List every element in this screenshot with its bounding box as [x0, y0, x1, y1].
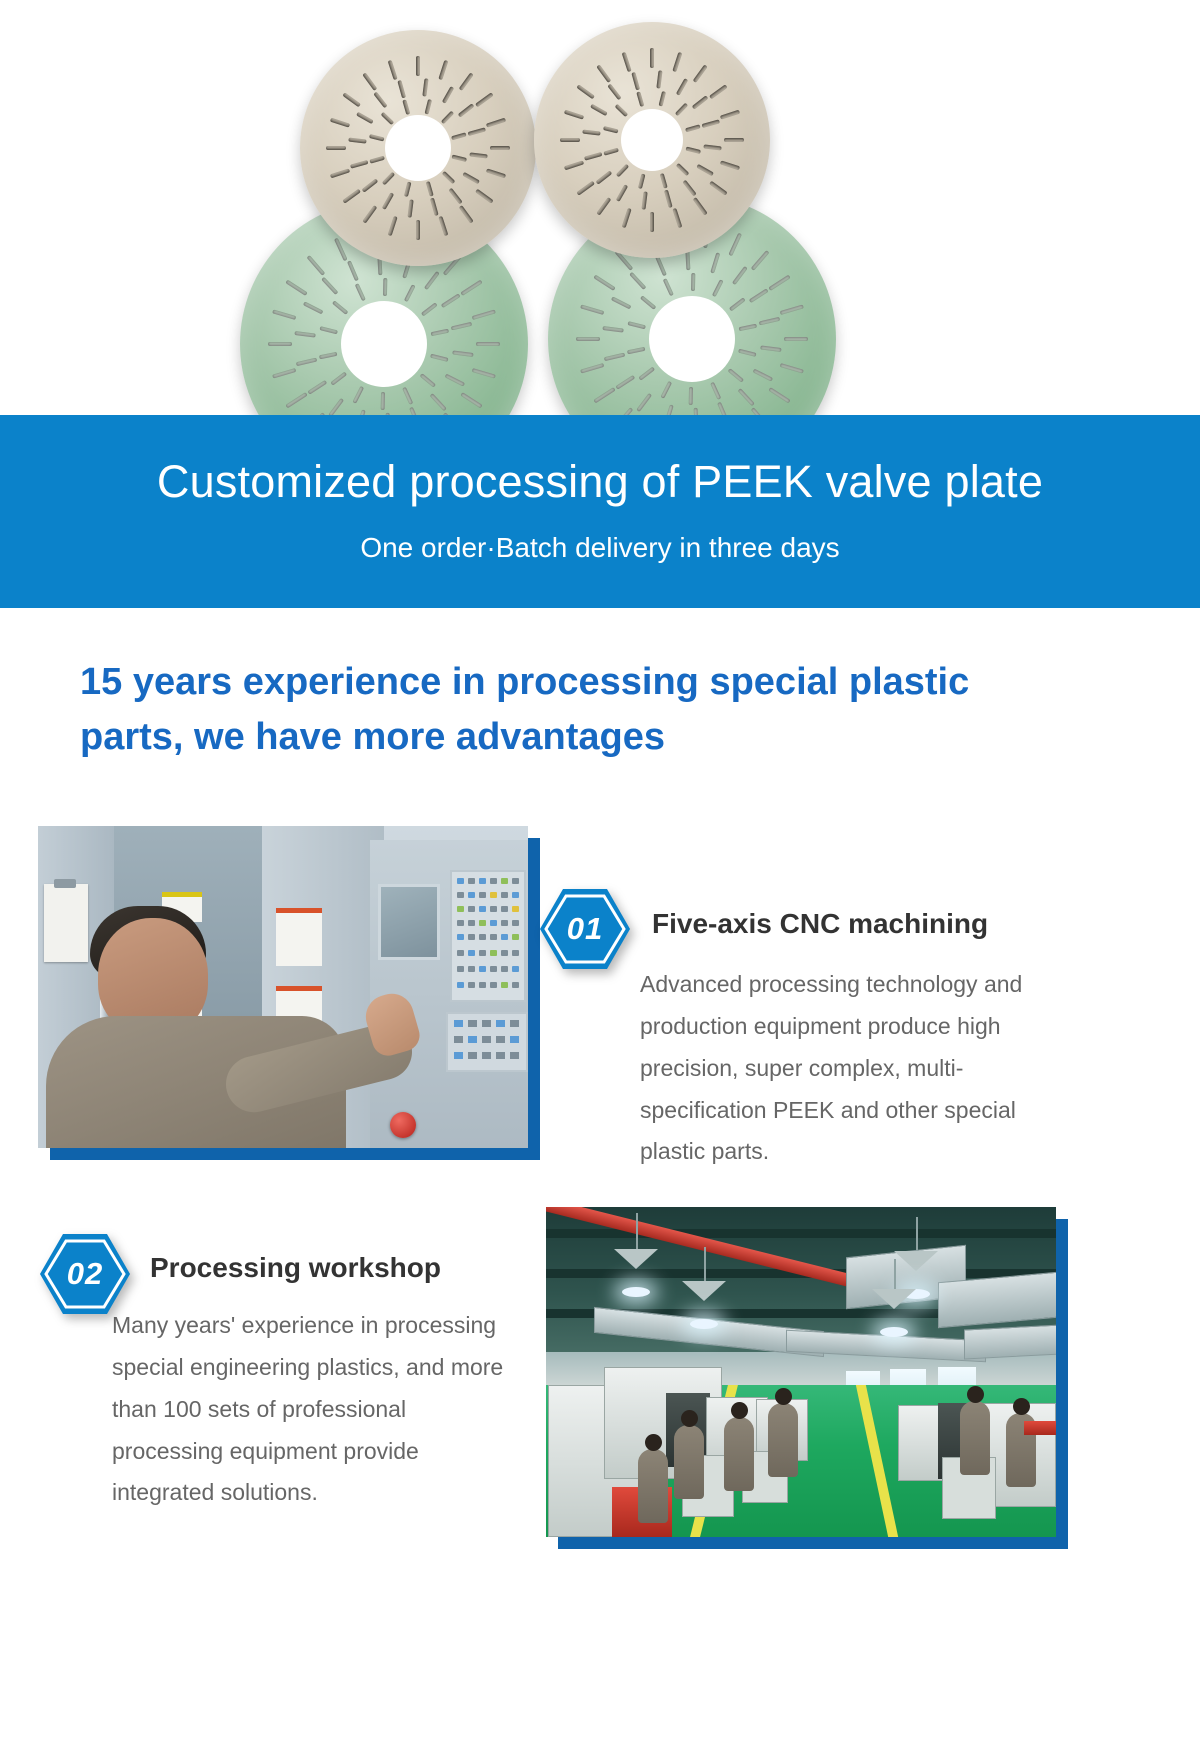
workshop-photo: [546, 1207, 1056, 1537]
photo-image-workshop: [546, 1207, 1056, 1537]
section-headline: 15 years experience in processing specia…: [80, 655, 1080, 765]
valve-plate-top-left: [300, 30, 536, 266]
cnc-machining-photo: [38, 826, 528, 1148]
valve-plate-top-right: [534, 22, 770, 258]
hero-banner: Customized processing of PEEK valve plat…: [0, 415, 1200, 608]
banner-subtitle: One order·Batch delivery in three days: [0, 504, 1200, 562]
feature-title-02: Processing workshop: [150, 1252, 441, 1284]
feature-number-text: 02: [38, 1232, 132, 1316]
feature-number-text: 01: [538, 887, 632, 971]
feature-body-02: Many years' experience in processing spe…: [112, 1305, 522, 1514]
hero-product-photo: [0, 0, 1200, 415]
feature-body-01: Advanced processing technology and produ…: [640, 964, 1070, 1173]
banner-title: Customized processing of PEEK valve plat…: [0, 415, 1200, 504]
feature-title-01: Five-axis CNC machining: [652, 908, 988, 940]
photo-image-cnc: [38, 826, 528, 1148]
feature-number-badge-02: 02: [38, 1232, 132, 1316]
feature-number-badge-01: 01: [538, 887, 632, 971]
